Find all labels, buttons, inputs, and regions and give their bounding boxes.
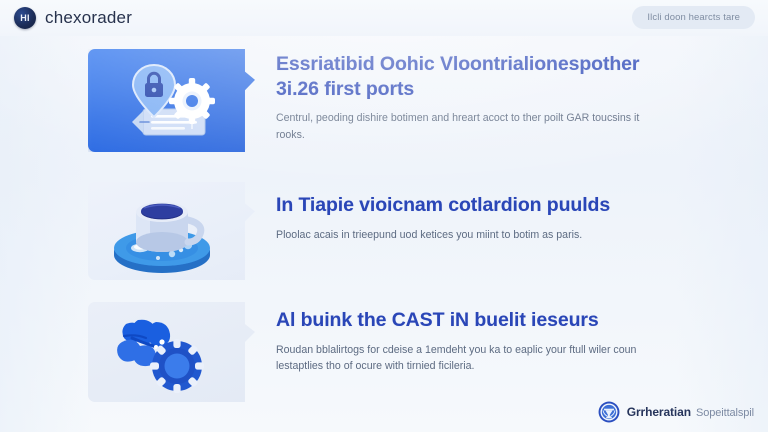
feature-text: Essriatibid Oohic Vloontrialionespother … [276, 49, 676, 144]
feature-title: Essriatibid Oohic Vloontrialionespother … [276, 49, 676, 101]
feature-body: Ploolac acais in trieepund uod ketices y… [276, 227, 668, 244]
footer-text: Grrheratian Sopeittalspil [627, 405, 754, 419]
footer-brand-strong: Grrheratian [627, 405, 691, 419]
feature-title: Al buink the CAST iN buelit ieseurs [276, 302, 676, 333]
brand-mark-icon: HI [14, 7, 36, 29]
feature-row: Essriatibid Oohic Vloontrialionespother … [88, 49, 676, 152]
footer-brand-light: Sopeittalspil [696, 407, 754, 419]
feature-body: Centrul, peoding dishire botimen and hre… [276, 110, 668, 143]
footer-badge[interactable]: Grrheratian Sopeittalspil [598, 401, 754, 423]
feature-body: Roudan bblalirtogs for cdeise a 1emdeht … [276, 342, 668, 375]
page-header: HI chexorader Ilcli doon hearcts tare [0, 0, 768, 36]
lock-pin-gear-document-icon [88, 49, 255, 152]
feature-rows: Essriatibid Oohic Vloontrialionespother … [0, 36, 768, 396]
feature-text: In Tiapie vioicnam cotlardion puulds Plo… [276, 182, 676, 243]
abstract-shapes-gear-icon [88, 302, 255, 402]
blue-cylinder-platform-icon [88, 182, 255, 280]
page-root: HI chexorader Ilcli doon hearcts tare [0, 0, 768, 432]
feature-row: In Tiapie vioicnam cotlardion puulds Plo… [88, 182, 676, 280]
feature-title: In Tiapie vioicnam cotlardion puulds [276, 182, 676, 218]
emblem-seal-icon [598, 401, 620, 423]
brand-initials: HI [20, 14, 30, 23]
brand-logo[interactable]: HI chexorader [14, 7, 132, 29]
feature-text: Al buink the CAST iN buelit ieseurs Roud… [276, 302, 676, 375]
header-pill-button[interactable]: Ilcli doon hearcts tare [632, 6, 755, 29]
brand-name: chexorader [45, 8, 132, 28]
feature-row: Al buink the CAST iN buelit ieseurs Roud… [88, 302, 676, 402]
